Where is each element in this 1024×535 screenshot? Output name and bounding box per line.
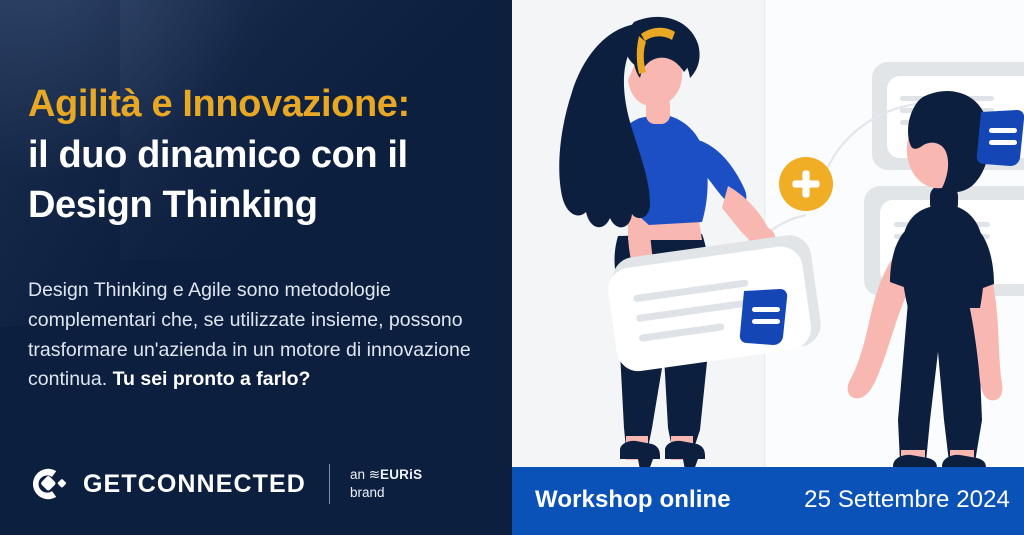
left-content-panel: Agilità e Innovazione: il duo dinamico c…: [0, 0, 512, 535]
headline-line-two: il duo dinamico con il: [28, 130, 498, 181]
euris-name: EURiS: [380, 467, 422, 482]
logo-divider: [329, 464, 330, 504]
headline-accent-line: Agilità e Innovazione:: [28, 79, 498, 130]
subcopy-paragraph: Design Thinking e Agile sono metodologie…: [28, 276, 483, 395]
page-title: Agilità e Innovazione: il duo dinamico c…: [28, 79, 498, 231]
logo-brand-note: an ≋EURiSbrand: [350, 466, 422, 502]
euris-wave-icon: ≋: [369, 467, 380, 482]
headline-line-three: Design Thinking: [28, 180, 498, 231]
logo-wordmark: GETCONNECTED: [83, 472, 306, 497]
subcopy-emphasis: Tu sei pronto a farlo?: [113, 368, 311, 390]
getconnected-logo-mark-icon: [29, 464, 69, 504]
brand-note-line2: brand: [350, 485, 385, 500]
blue-tag-icon-right: [977, 110, 1024, 166]
illustration-artwork: [512, 0, 1024, 535]
event-info-bar: Workshop online 25 Settembre 2024: [512, 467, 1024, 535]
event-banner: Agilità e Innovazione: il duo dinamico c…: [0, 0, 1024, 535]
plus-badge-icon: [779, 157, 833, 211]
blue-tag-icon-front: [740, 289, 787, 345]
brand-logo-lockup[interactable]: GETCONNECTED an ≋EURiSbrand: [29, 464, 422, 504]
illustration-area: [512, 0, 1024, 535]
brand-note-prefix: an: [350, 467, 369, 482]
event-type-label: Workshop online: [535, 486, 731, 514]
event-date-label: 25 Settembre 2024: [804, 486, 1010, 514]
